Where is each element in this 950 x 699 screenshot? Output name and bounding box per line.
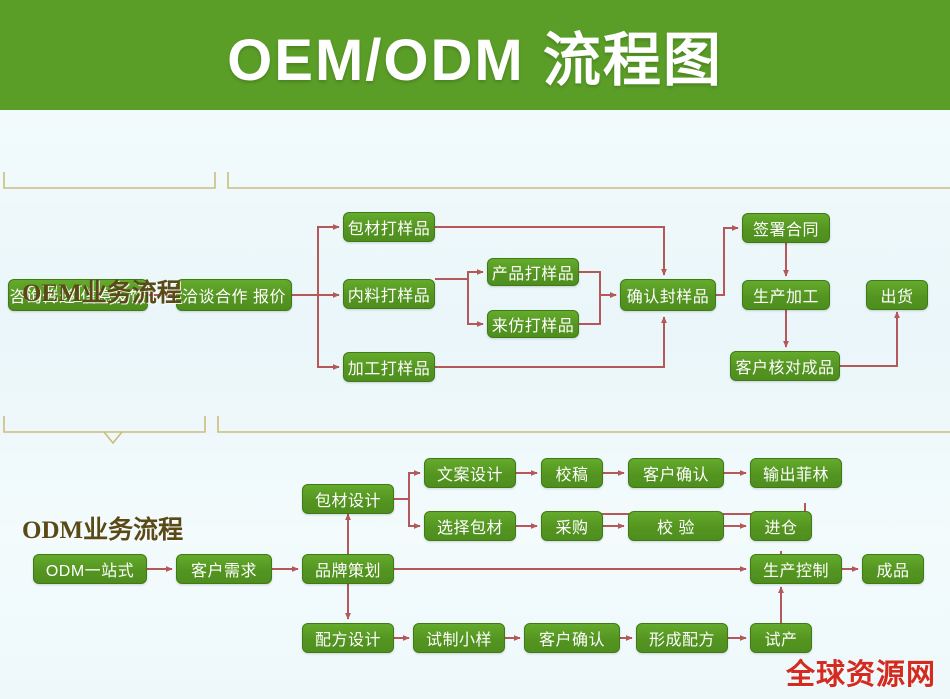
node-odm-trial-sample[interactable]: 试制小样 <box>413 623 505 653</box>
site-watermark: 全球资源网 <box>786 651 936 693</box>
node-oem-processing-sample[interactable]: 加工打样品 <box>343 352 435 382</box>
node-oem-sign-contract[interactable]: 签署合同 <box>742 213 830 243</box>
node-odm-purchasing[interactable]: 采购 <box>541 511 603 541</box>
node-oem-material-sample[interactable]: 内料打样品 <box>343 279 435 309</box>
node-oem-product-sample[interactable]: 产品打样品 <box>487 258 579 286</box>
section-bracket-oem <box>4 172 950 188</box>
node-odm-brand-planning[interactable]: 品牌策划 <box>302 554 394 584</box>
connector-layer <box>0 110 950 699</box>
page-title: OEM/ODM 流程图 <box>227 13 723 97</box>
node-odm-one-stop[interactable]: ODM一站式 <box>33 554 147 584</box>
node-odm-packaging-design[interactable]: 包材设计 <box>302 484 394 514</box>
node-odm-formula-design[interactable]: 配方设计 <box>302 623 394 653</box>
node-odm-inspection[interactable]: 校 验 <box>628 511 724 541</box>
flowchart-page: OEM/ODM 流程图 <box>0 0 950 699</box>
node-odm-proofreading[interactable]: 校稿 <box>541 458 603 488</box>
node-odm-finished-product[interactable]: 成品 <box>862 554 924 584</box>
node-odm-customer-confirm-bot[interactable]: 客户确认 <box>524 623 620 653</box>
section-title-odm: ODM业务流程 <box>22 510 183 546</box>
node-odm-warehousing[interactable]: 进仓 <box>750 511 812 541</box>
node-oem-packaging-sample[interactable]: 包材打样品 <box>343 212 435 242</box>
node-odm-select-packaging[interactable]: 选择包材 <box>424 511 516 541</box>
node-oem-negotiation-quote[interactable]: 洽谈合作 报价 <box>176 279 292 311</box>
node-oem-customer-check[interactable]: 客户核对成品 <box>730 351 840 381</box>
node-oem-confirm-seal-sample[interactable]: 确认封样品 <box>620 279 716 311</box>
node-odm-customer-confirm-top[interactable]: 客户确认 <box>628 458 724 488</box>
node-odm-copywriting-design[interactable]: 文案设计 <box>424 458 516 488</box>
node-oem-shipment[interactable]: 出货 <box>866 280 928 310</box>
page-header-banner: OEM/ODM 流程图 <box>0 0 950 110</box>
node-odm-production-control[interactable]: 生产控制 <box>750 554 842 584</box>
node-oem-imitation-sample[interactable]: 来仿打样品 <box>487 310 579 338</box>
node-oem-production[interactable]: 生产加工 <box>742 280 830 310</box>
node-odm-output-film[interactable]: 输出菲林 <box>750 458 842 488</box>
node-odm-trial-production[interactable]: 试产 <box>750 623 812 653</box>
flowchart-canvas: OEM业务流程 ODM业务流程 咨询传递 信息反馈 洽谈合作 报价 包材打样品 … <box>0 110 950 699</box>
section-bracket-odm <box>4 416 950 443</box>
section-title-oem: OEM业务流程 <box>22 273 182 309</box>
node-odm-finalize-formula[interactable]: 形成配方 <box>636 623 728 653</box>
node-odm-customer-demand[interactable]: 客户需求 <box>176 554 272 584</box>
